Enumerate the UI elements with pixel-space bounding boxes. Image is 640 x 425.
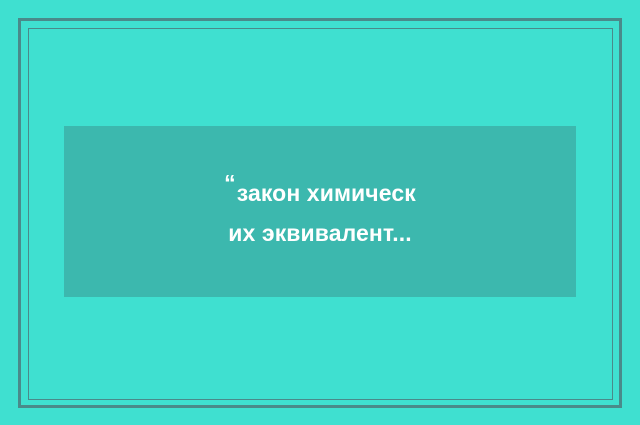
quote-card: “закон химическ их эквивалент... [0, 0, 640, 425]
quote-line-2: их эквивалент... [224, 214, 416, 254]
quote-text-block: “закон химическ их эквивалент... [224, 174, 416, 253]
quote-line-1: “закон химическ [224, 174, 416, 214]
quote-line-1-text: закон химическ [237, 180, 416, 206]
open-quote-icon: “ [224, 170, 236, 196]
quote-panel: “закон химическ их эквивалент... [64, 126, 576, 297]
